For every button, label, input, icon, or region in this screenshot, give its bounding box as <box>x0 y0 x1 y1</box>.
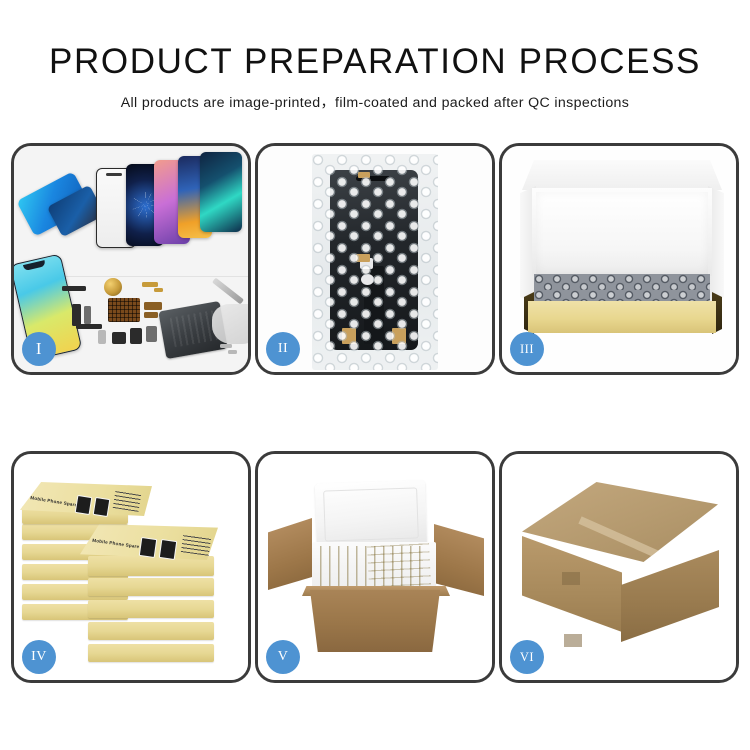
small-part <box>130 328 142 344</box>
small-part <box>84 306 91 324</box>
bubble-wrap-layer <box>534 274 710 304</box>
box-spec-lines <box>113 490 141 512</box>
process-step-grid: I <box>11 143 739 683</box>
box-thumbnail <box>139 537 157 558</box>
bubble-texture <box>312 154 438 370</box>
kraft-box-front <box>528 301 716 333</box>
step-badge-6: VI <box>510 640 544 674</box>
small-part <box>62 286 86 291</box>
stacked-box <box>88 644 214 662</box>
stacked-box <box>88 578 214 596</box>
carton-tab <box>564 634 582 647</box>
ic-chip-array <box>108 298 140 322</box>
white-foam-sheet <box>536 192 708 274</box>
small-part <box>144 312 158 318</box>
small-part <box>154 288 163 292</box>
box-thumbnail <box>75 495 93 515</box>
small-part <box>112 332 126 344</box>
box-thumbnail <box>159 539 177 560</box>
box-spec-lines <box>181 534 211 556</box>
step-badge-2: II <box>266 332 300 366</box>
bubble-wrap-bag <box>312 154 438 370</box>
step-panel-1: I <box>11 143 251 375</box>
box-thumbnail <box>93 497 111 517</box>
step-panel-4: Mobile Phone Spare Parts Mobile Phone Sp… <box>11 451 251 683</box>
phone-notch <box>23 260 46 271</box>
small-part <box>76 324 102 329</box>
small-part <box>144 302 162 310</box>
step-badge-5: V <box>266 640 300 674</box>
step-badge-1: I <box>22 332 56 366</box>
stacked-box <box>88 622 214 640</box>
small-part <box>220 344 232 348</box>
product-preparation-infographic: PRODUCT PREPARATION PROCESS All products… <box>0 0 750 750</box>
earpiece-slot <box>106 173 122 176</box>
step-badge-4: IV <box>22 640 56 674</box>
box-lid <box>522 160 722 190</box>
header: PRODUCT PREPARATION PROCESS All products… <box>0 0 750 112</box>
step-panel-3: III <box>499 143 739 375</box>
small-part <box>146 326 157 342</box>
carton-tab <box>562 572 580 585</box>
step-panel-6: VI <box>499 451 739 683</box>
small-part <box>72 304 81 326</box>
gold-coil-part <box>104 278 122 296</box>
page-title: PRODUCT PREPARATION PROCESS <box>0 0 750 79</box>
page-subtitle: All products are image-printed，film-coat… <box>0 79 750 112</box>
step-panel-5: V <box>255 451 495 683</box>
stacked-box <box>88 600 214 618</box>
teal-gradient-phone <box>200 152 242 232</box>
small-part <box>142 282 158 287</box>
step-badge-3: III <box>510 332 544 366</box>
small-part <box>228 350 237 354</box>
step-panel-2: II <box>255 143 495 375</box>
styrofoam-lid <box>315 480 427 550</box>
packed-yellow-boxes <box>367 542 431 587</box>
small-part <box>98 330 106 344</box>
carton-front <box>310 590 440 652</box>
technician-hand <box>212 304 248 344</box>
